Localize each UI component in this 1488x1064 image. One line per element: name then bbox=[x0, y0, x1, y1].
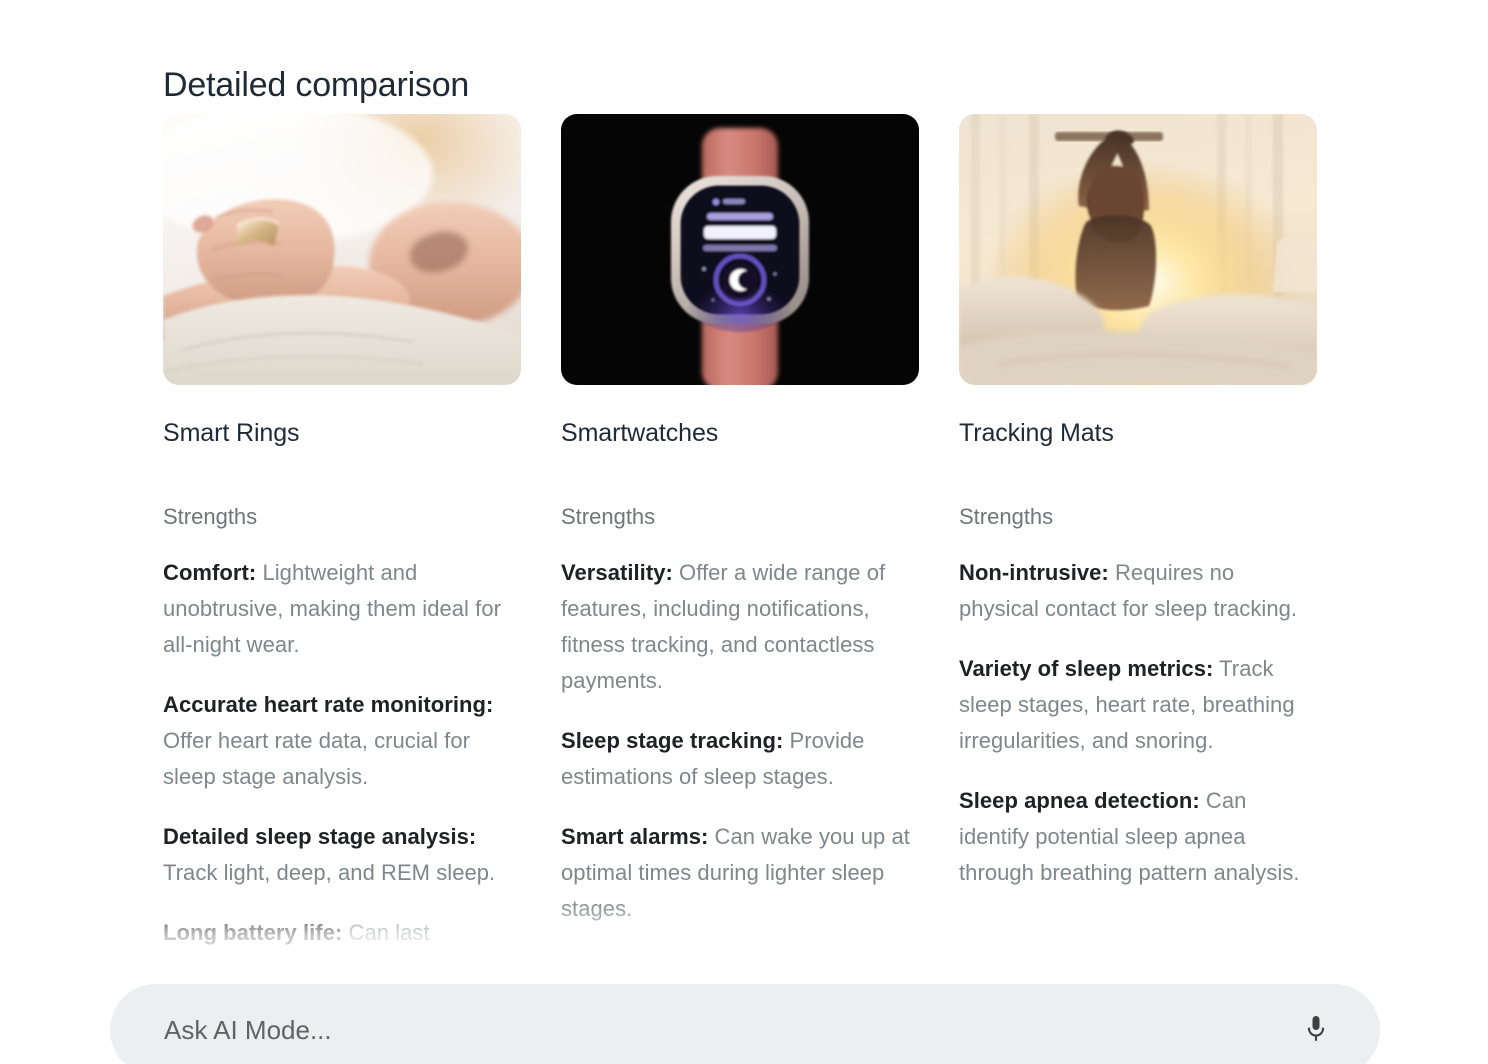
strength-text: Track light, deep, and REM sleep. bbox=[163, 860, 495, 885]
strength-item: Accurate heart rate monitoring: Offer he… bbox=[163, 687, 521, 795]
comparison-grid: Smart Rings Strengths Comfort: Lightweig… bbox=[163, 114, 1343, 980]
section-label-strengths-smartwatches: Strengths bbox=[561, 503, 919, 531]
strength-item: Non-intrusive: Requires no physical cont… bbox=[959, 555, 1317, 627]
strength-item: Comfort: Lightweight and unobtrusive, ma… bbox=[163, 555, 521, 663]
strength-item: Detailed sleep stage analysis: Track lig… bbox=[163, 819, 521, 891]
comparison-column-smart-rings: Smart Rings Strengths Comfort: Lightweig… bbox=[163, 114, 521, 980]
strength-item: Smart alarms: Can wake you up at optimal… bbox=[561, 819, 919, 927]
page-title: Detailed comparison bbox=[163, 63, 469, 107]
strength-term: Comfort: bbox=[163, 560, 256, 585]
ai-mode-answer-page: Detailed comparison bbox=[0, 0, 1488, 1064]
ask-ai-mode-input[interactable] bbox=[164, 1015, 1296, 1046]
strength-term: Accurate heart rate monitoring: bbox=[163, 692, 493, 717]
microphone-icon bbox=[1304, 1014, 1328, 1046]
strength-term: Long battery life: bbox=[163, 920, 342, 945]
composer-bar[interactable] bbox=[110, 984, 1380, 1064]
person-stretching-at-sunrise-photo bbox=[959, 114, 1317, 385]
column-label-smart-rings: Smart Rings bbox=[163, 417, 521, 449]
strength-text: Offer heart rate data, crucial for sleep… bbox=[163, 728, 470, 789]
strength-item: Sleep stage tracking: Provide estimation… bbox=[561, 723, 919, 795]
strength-item: Variety of sleep metrics: Track sleep st… bbox=[959, 651, 1317, 759]
composer-region bbox=[0, 978, 1488, 1064]
section-label-strengths-tracking-mats: Strengths bbox=[959, 503, 1317, 531]
thumbnail-tracking-mats[interactable] bbox=[959, 114, 1317, 385]
column-label-tracking-mats: Tracking Mats bbox=[959, 417, 1317, 449]
strength-term: Variety of sleep metrics: bbox=[959, 656, 1213, 681]
strength-term: Smart alarms: bbox=[561, 824, 708, 849]
sleeping-person-with-smart-ring-photo bbox=[163, 114, 521, 385]
thumbnail-smartwatches[interactable] bbox=[561, 114, 919, 385]
column-label-smartwatches: Smartwatches bbox=[561, 417, 919, 449]
smartwatch-sleep-score-photo bbox=[561, 114, 919, 385]
thumbnail-smart-rings[interactable] bbox=[163, 114, 521, 385]
strength-term: Sleep stage tracking: bbox=[561, 728, 783, 753]
microphone-button[interactable] bbox=[1296, 1010, 1336, 1050]
comparison-column-tracking-mats: Tracking Mats Strengths Non-intrusive: R… bbox=[959, 114, 1317, 980]
strength-item: Long battery life: Can last bbox=[163, 915, 521, 951]
strength-text: Can last bbox=[342, 920, 429, 945]
strength-term: Sleep apnea detection: bbox=[959, 788, 1200, 813]
section-label-strengths-smart-rings: Strengths bbox=[163, 503, 521, 531]
comparison-column-smartwatches: Smartwatches Strengths Versatility: Offe… bbox=[561, 114, 919, 980]
strength-term: Versatility: bbox=[561, 560, 673, 585]
strength-term: Detailed sleep stage analysis: bbox=[163, 824, 476, 849]
strength-item: Sleep apnea detection: Can identify pote… bbox=[959, 783, 1317, 891]
strength-item: Versatility: Offer a wide range of featu… bbox=[561, 555, 919, 699]
strength-term: Non-intrusive: bbox=[959, 560, 1109, 585]
